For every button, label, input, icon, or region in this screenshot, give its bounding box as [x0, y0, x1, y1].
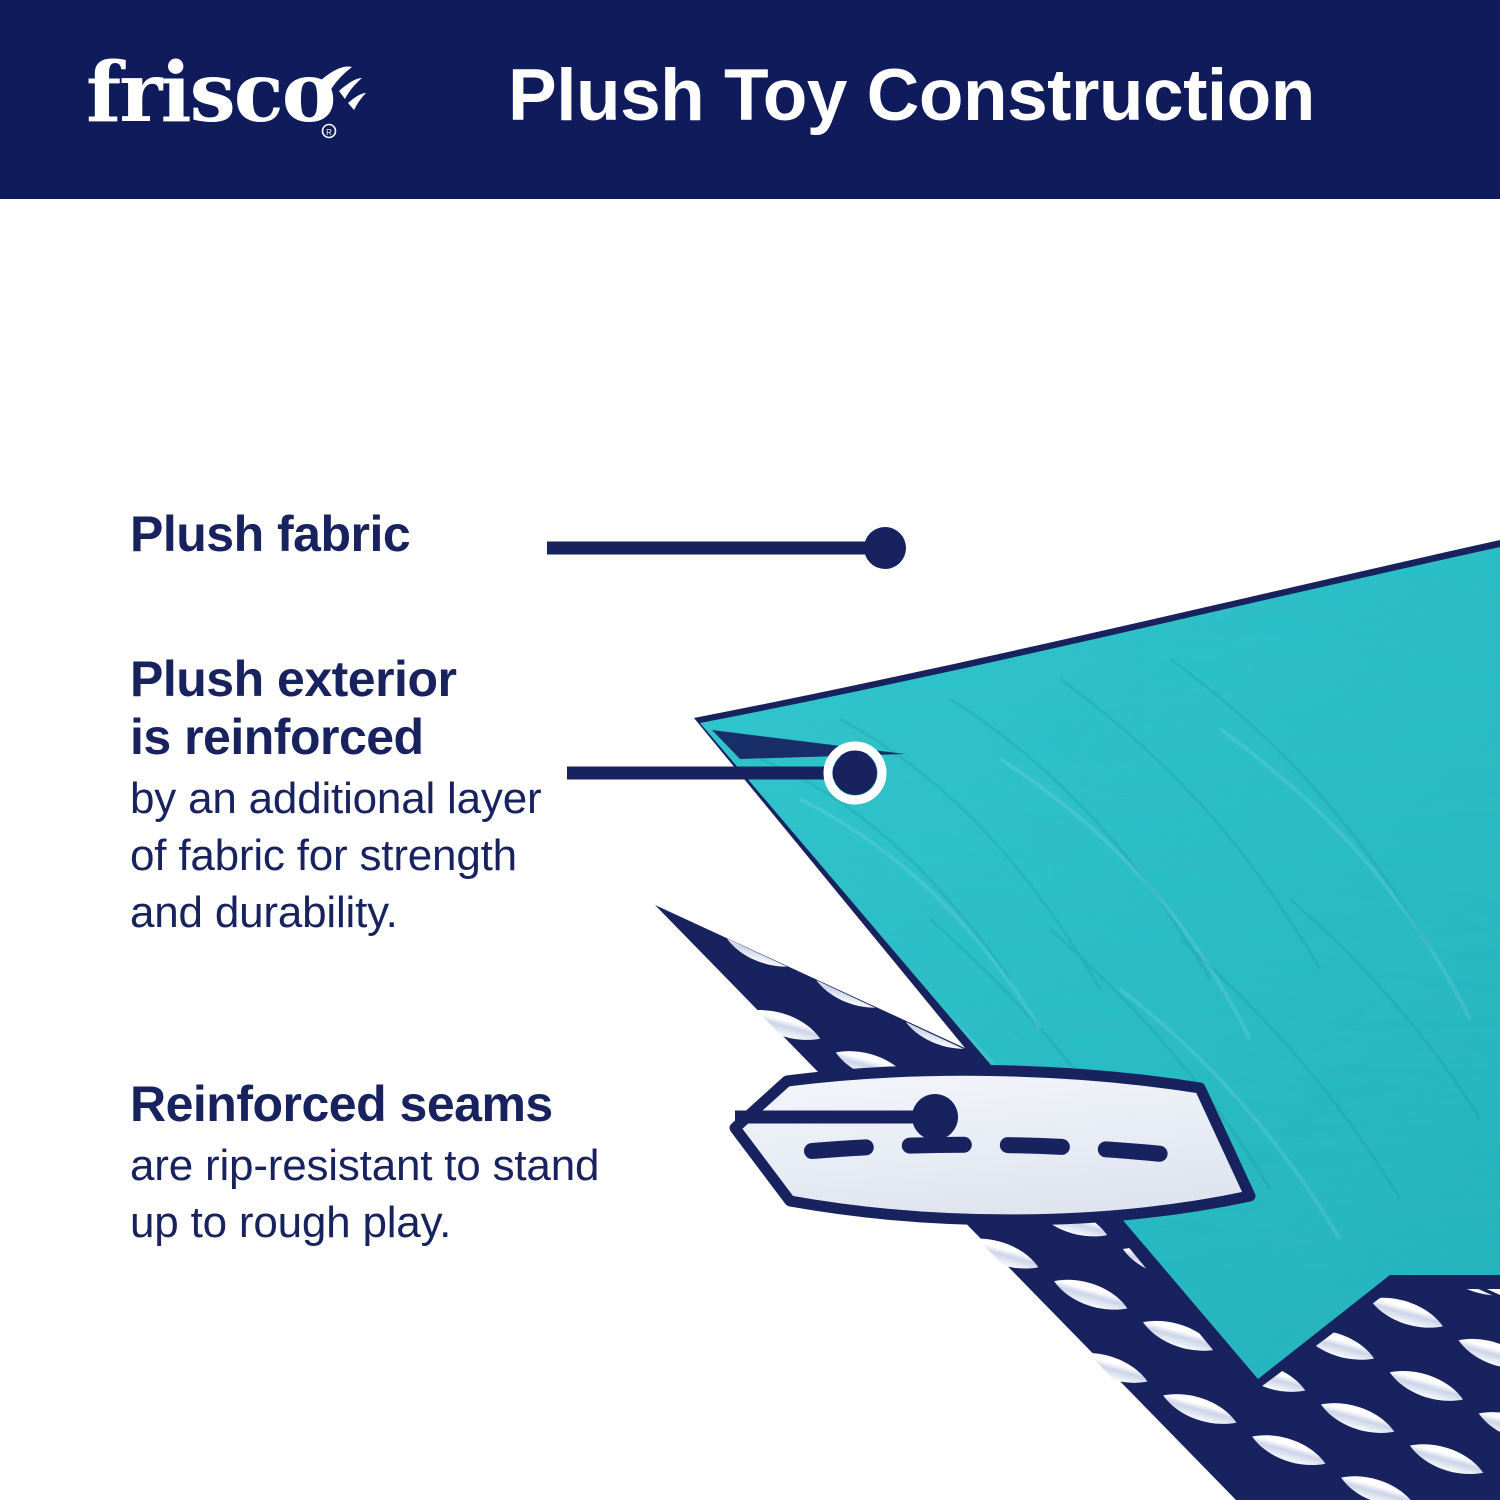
- header-bar: frisco R Plush Toy Construction: [0, 0, 1500, 199]
- svg-text:R: R: [326, 128, 332, 137]
- callout-heading: Plush fabric: [130, 505, 600, 563]
- leader-dot-filled: [864, 527, 906, 569]
- infographic-page: frisco R Plush Toy Construction: [0, 0, 1500, 1500]
- callout-body: by an additional layer of fabric for str…: [130, 770, 750, 942]
- page-title: Plush Toy Construction: [508, 44, 1408, 154]
- frisco-logo: frisco R: [86, 47, 386, 147]
- leader-dot-filled: [912, 1094, 958, 1140]
- callout-heading: Reinforced seams: [130, 1075, 810, 1133]
- svg-text:frisco: frisco: [86, 47, 334, 141]
- callout-plush-fabric: Plush fabric: [130, 505, 600, 563]
- reinforced-seam-layer: [735, 1070, 1250, 1220]
- leader-dot-filled: [833, 751, 877, 795]
- callout-body: are rip-resistant to stand up to rough p…: [130, 1137, 810, 1251]
- callout-heading: Plush exterior is reinforced: [130, 650, 750, 766]
- callout-plush-exterior: Plush exterior is reinforced by an addit…: [130, 650, 750, 942]
- callout-reinforced-seams: Reinforced seams are rip-resistant to st…: [130, 1075, 810, 1251]
- leader-plush-fabric: [547, 527, 906, 569]
